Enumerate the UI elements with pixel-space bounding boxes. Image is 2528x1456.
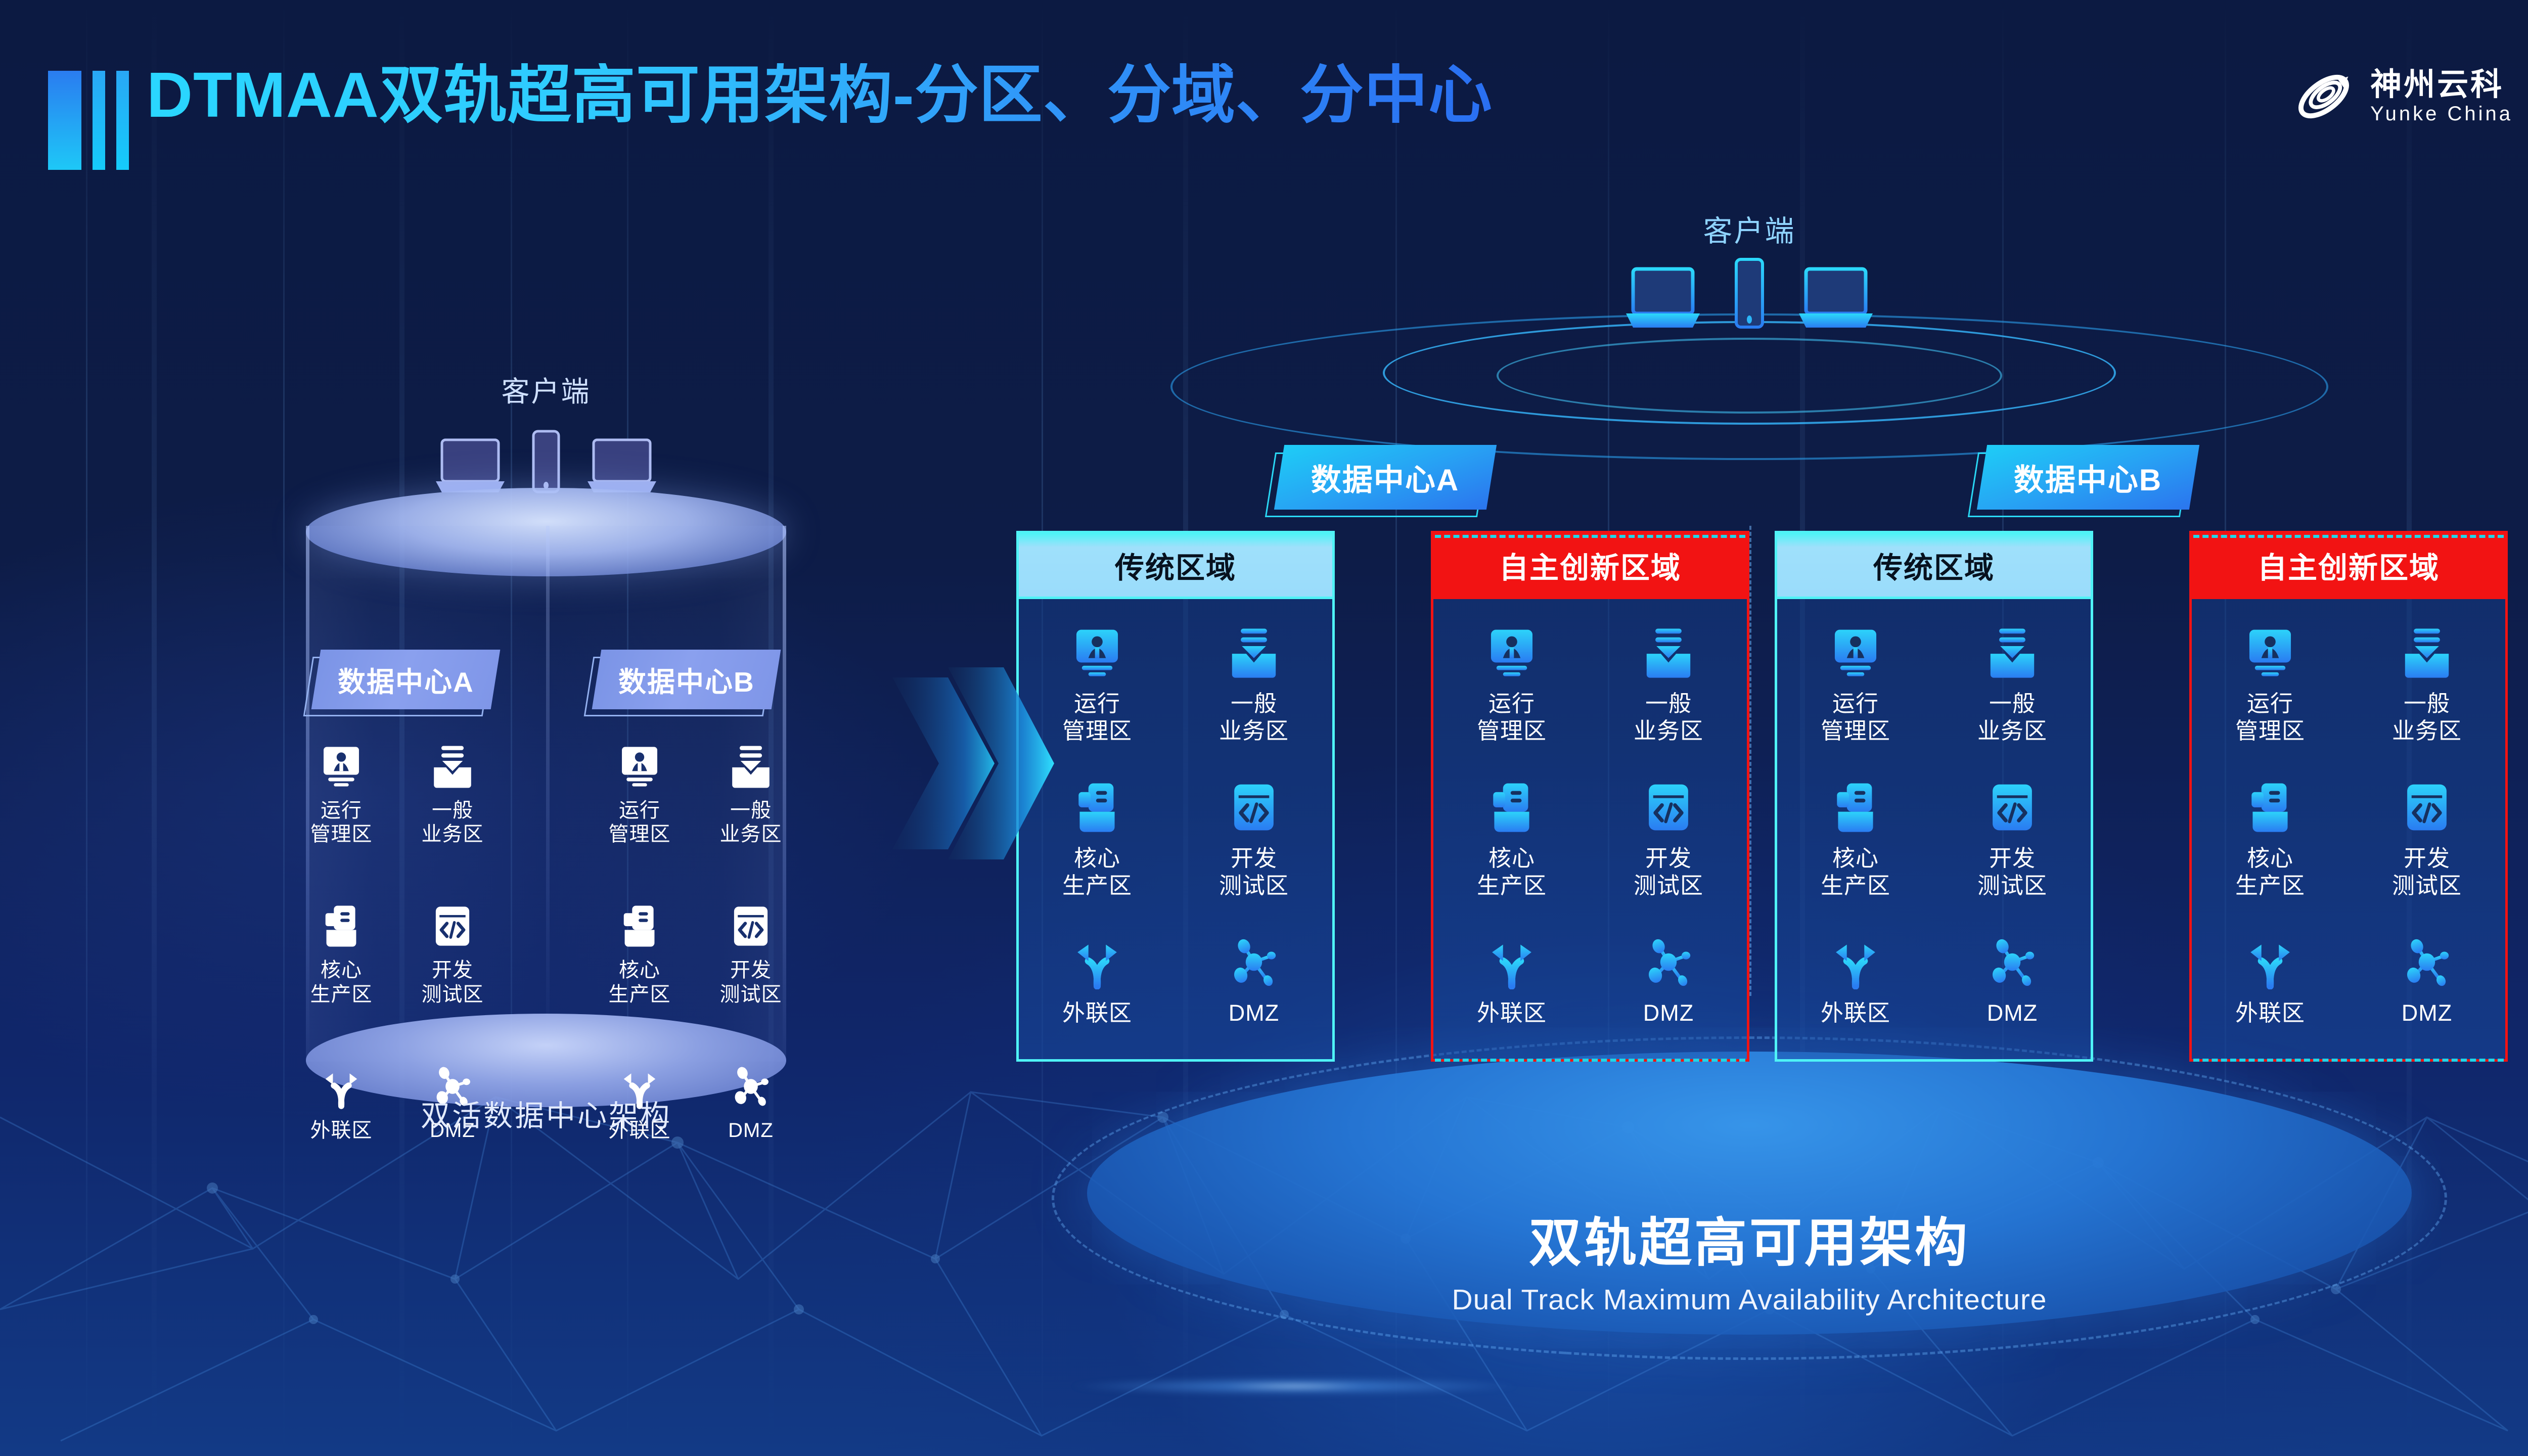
zone-row: 外联区 <box>1433 935 1747 1027</box>
badge-face: 数据中心A <box>1274 445 1497 510</box>
user-monitor-icon <box>1828 625 1883 680</box>
left-datacenter-badge-a[interactable]: 数据中心A <box>316 650 495 709</box>
right-datacenters: 传统区域 <box>991 531 2508 1062</box>
zone-label: 开发 测试区 <box>1977 845 2047 899</box>
left-clients-label: 客户端 <box>217 369 875 410</box>
zone-general-business[interactable]: 一般 业务区 <box>407 743 498 846</box>
panel-title-innovation: 自主创新区域 <box>1431 531 1749 597</box>
zone-dmz[interactable]: DMZ <box>2364 935 2490 1027</box>
zone-label: DMZ <box>2402 999 2452 1027</box>
zone-row: 核心 生产区 开发 测试区 <box>286 903 508 1006</box>
zone-row: 运行 管理区 一般 业务区 <box>1433 625 1747 745</box>
right-datacenter-badge-a[interactable]: 数据中心A <box>1279 445 1492 510</box>
zone-row: 核心 生产区 开发 测试区 <box>1019 780 1332 899</box>
dc-a-traditional-panel[interactable]: 传统区域 <box>1016 531 1335 1062</box>
zone-label: 一般 业务区 <box>1219 690 1289 745</box>
zone-row: 外联区 <box>1019 935 1332 1027</box>
branch-arrows-icon <box>1828 935 1883 989</box>
user-monitor-icon <box>2243 625 2297 680</box>
zone-dev-test[interactable]: 开发 测试区 <box>1949 780 2075 899</box>
badge-face: 数据中心A <box>311 650 501 709</box>
zone-core-production[interactable]: 核心 生产区 <box>594 903 685 1006</box>
zone-label: 核心 生产区 <box>1062 845 1132 899</box>
zone-core-production[interactable]: 核心 生产区 <box>1449 780 1575 899</box>
inbox-icon <box>728 743 774 790</box>
branch-arrows-icon <box>1484 935 1539 989</box>
page-title: DTMAA双轨超高可用架构-分区、分域、分中心 <box>147 63 1493 127</box>
zone-ops-mgmt[interactable]: 运行 管理区 <box>594 743 685 846</box>
logo-name-cn: 神州云科 <box>2370 69 2513 101</box>
zone-row: 运行 管理区 一般 业务区 <box>2192 625 2505 745</box>
user-monitor-icon <box>1070 625 1124 680</box>
dc-b-innovation-panel[interactable]: 自主创新区域 运行 管理区 <box>2189 531 2508 1062</box>
double-chevron-right-icon <box>887 657 1059 870</box>
zone-label: 核心 生产区 <box>2235 845 2305 899</box>
zone-general-business[interactable]: 一般 业务区 <box>1949 625 2075 745</box>
zone-label: 一般 业务区 <box>1977 690 2047 745</box>
zone-label: 开发 测试区 <box>720 959 782 1006</box>
datacenter-a: 传统区域 <box>991 531 1749 1062</box>
zone-row: 核心 生产区 开发 测试区 <box>1433 780 1747 899</box>
badge-face: 数据中心B <box>592 650 781 709</box>
zone-label: 开发 测试区 <box>1634 845 1703 899</box>
datacenter-b: 传统区域 运行 管理区 <box>1749 531 2508 1062</box>
server-rack-icon <box>2243 780 2297 835</box>
dc-a-innovation-panel[interactable]: 自主创新区域 运行 管理区 <box>1431 531 1749 1062</box>
server-rack-icon <box>616 903 663 949</box>
zone-external[interactable]: 外联区 <box>2207 935 2333 1027</box>
server-rack-icon <box>1484 780 1539 835</box>
inbox-icon <box>429 743 476 790</box>
zone-ops-mgmt[interactable]: 运行 管理区 <box>2207 625 2333 745</box>
right-architecture-diagram: 客户端 数据中心A <box>991 177 2508 1365</box>
badge-face: 数据中心B <box>1977 445 2199 510</box>
right-clients-label: 客户端 <box>991 207 2508 250</box>
zone-general-business[interactable]: 一般 业务区 <box>1605 625 1732 745</box>
zone-label: 核心 生产区 <box>609 959 671 1006</box>
zone-dev-test[interactable]: 开发 测试区 <box>1605 780 1732 899</box>
server-rack-icon <box>1070 780 1124 835</box>
inbox-icon <box>1227 625 1281 680</box>
right-datacenter-a-label: 数据中心A <box>1311 456 1459 499</box>
panel-zones: 运行 管理区 一般 业务区 <box>2189 597 2508 1062</box>
zone-row: 运行 管理区 一般 业务区 <box>584 743 806 846</box>
inbox-icon <box>1985 625 2040 680</box>
zone-label: 一般 业务区 <box>720 799 782 846</box>
zone-label: 外联区 <box>1062 999 1132 1027</box>
zone-core-production[interactable]: 核心 生产区 <box>296 903 387 1006</box>
panel-title-traditional: 传统区域 <box>1775 531 2093 597</box>
zone-label: 核心 生产区 <box>1477 845 1547 899</box>
zone-external[interactable]: 外联区 <box>1792 935 1919 1027</box>
zone-dev-test[interactable]: 开发 测试区 <box>2364 780 2490 899</box>
zone-general-business[interactable]: 一般 业务区 <box>705 743 796 846</box>
caption-en: Dual Track Maximum Availability Architec… <box>991 1283 2508 1316</box>
zone-label: 外联区 <box>1821 999 1890 1027</box>
left-client-devices <box>433 430 659 493</box>
zone-row: 运行 管理区 一般 业务区 <box>286 743 508 846</box>
zone-row: 外联区 <box>1777 935 2091 1027</box>
zone-row: 外联区 <box>2192 935 2505 1027</box>
code-brackets-icon <box>1641 780 1696 835</box>
logo-name-en: Yunke China <box>2370 104 2513 124</box>
branch-arrows-icon <box>1070 935 1124 989</box>
logo-text: 神州云科 Yunke China <box>2370 69 2513 124</box>
panel-title-innovation: 自主创新区域 <box>2189 531 2508 597</box>
inbox-icon <box>2400 625 2454 680</box>
zone-label: 开发 测试区 <box>422 959 484 1006</box>
zone-dev-test[interactable]: 开发 测试区 <box>407 903 498 1006</box>
panel-zones: 运行 管理区 一般 业务区 <box>1016 597 1335 1062</box>
panel-zones: 运行 管理区 一般 业务区 <box>1775 597 2093 1062</box>
dc-b-traditional-panel[interactable]: 传统区域 运行 管理区 <box>1775 531 2093 1062</box>
zone-label: 运行 管理区 <box>310 799 373 846</box>
zone-dmz[interactable]: DMZ <box>1605 935 1732 1027</box>
laptop-icon <box>584 438 659 493</box>
zone-row: 核心 生产区 开发 测试区 <box>1777 780 2091 899</box>
zone-label: 一般 业务区 <box>1634 690 1703 745</box>
zone-ops-mgmt[interactable]: 运行 管理区 <box>1449 625 1575 745</box>
zone-row: 运行 管理区 一般 业务区 <box>1777 625 2091 745</box>
client-ring-inner <box>1497 338 2002 414</box>
zone-dmz[interactable]: DMZ <box>1191 935 1317 1027</box>
zone-label: 运行 管理区 <box>609 799 671 846</box>
left-zone-columns: 运行 管理区 一般 业务区 <box>217 743 875 1143</box>
accent-bar-thin <box>116 71 129 170</box>
zone-ops-mgmt[interactable]: 运行 管理区 <box>1792 625 1919 745</box>
user-monitor-icon <box>318 743 365 790</box>
network-nodes-icon <box>1641 935 1696 989</box>
left-dc-b-zones: 运行 管理区 一般 业务区 <box>584 743 806 1143</box>
right-datacenter-b-label: 数据中心B <box>2014 456 2162 499</box>
zone-label: 外联区 <box>2235 999 2305 1027</box>
laptop-icon <box>433 438 508 493</box>
zone-label: 运行 管理区 <box>1477 690 1547 745</box>
panel-title-traditional: 传统区域 <box>1016 531 1335 597</box>
zone-label: 开发 测试区 <box>2392 845 2462 899</box>
zone-general-business[interactable]: 一般 业务区 <box>2364 625 2490 745</box>
zone-general-business[interactable]: 一般 业务区 <box>1191 625 1317 745</box>
zone-label: 运行 管理区 <box>1821 690 1890 745</box>
zone-row: 核心 生产区 开发 测试区 <box>584 903 806 1006</box>
laptop-icon <box>1622 267 1704 329</box>
right-diagram-caption: 双轨超高可用架构 Dual Track Maximum Availability… <box>991 1213 2508 1316</box>
zone-dev-test[interactable]: 开发 测试区 <box>1191 780 1317 899</box>
caption-cn: 双轨超高可用架构 <box>991 1213 2508 1274</box>
right-client-devices <box>1622 258 1877 329</box>
zone-external[interactable]: 外联区 <box>1449 935 1575 1027</box>
zone-core-production[interactable]: 核心 生产区 <box>1792 780 1919 899</box>
network-nodes-icon <box>2400 935 2454 989</box>
zone-dmz[interactable]: DMZ <box>1949 935 2075 1027</box>
zone-label: 一般 业务区 <box>422 799 484 846</box>
network-nodes-icon <box>1985 935 2040 989</box>
zone-label: DMZ <box>1643 999 1694 1027</box>
left-datacenter-a-label: 数据中心A <box>338 659 474 700</box>
yunke-swirl-logo-icon <box>2290 63 2357 130</box>
bottom-light-glow <box>1067 1377 1522 1395</box>
left-datacenter-badge-b[interactable]: 数据中心B <box>597 650 776 709</box>
zone-label: 核心 生产区 <box>310 959 373 1006</box>
zone-label: DMZ <box>1229 999 1279 1027</box>
network-nodes-icon <box>1227 935 1281 989</box>
left-datacenter-badges: 数据中心A 数据中心B <box>217 650 875 709</box>
zone-row: 核心 生产区 开发 测试区 <box>2192 780 2505 899</box>
user-monitor-icon <box>1484 625 1539 680</box>
left-diagram-caption: 双活数据中心架构 <box>217 1092 875 1134</box>
zone-row: 运行 管理区 一般 业务区 <box>1019 625 1332 745</box>
right-datacenter-badge-b[interactable]: 数据中心B <box>1982 445 2194 510</box>
left-datacenter-b-label: 数据中心B <box>618 659 755 700</box>
server-rack-icon <box>1828 780 1883 835</box>
accent-bar-thin <box>93 71 105 170</box>
page-header: DTMAA双轨超高可用架构-分区、分域、分中心 神州云科 Yunke China <box>0 0 2528 182</box>
zone-label: 运行 管理区 <box>1062 690 1132 745</box>
transition-arrow <box>887 657 1059 870</box>
code-brackets-icon <box>728 903 774 949</box>
code-brackets-icon <box>1985 780 2040 835</box>
panel-zones: 运行 管理区 一般 业务区 <box>1431 597 1749 1062</box>
zone-ops-mgmt[interactable]: 运行 管理区 <box>296 743 387 846</box>
zone-label: 核心 生产区 <box>1821 845 1890 899</box>
zone-label: 开发 测试区 <box>1219 845 1289 899</box>
left-dc-a-zones: 运行 管理区 一般 业务区 <box>286 743 508 1143</box>
server-rack-icon <box>318 903 365 949</box>
phone-icon <box>532 430 560 493</box>
left-architecture-diagram: 客户端 数据中心A 数据中心B <box>217 354 875 1213</box>
code-brackets-icon <box>429 903 476 949</box>
code-brackets-icon <box>1227 780 1281 835</box>
brand-logo: 神州云科 Yunke China <box>2290 63 2513 130</box>
zone-dev-test[interactable]: 开发 测试区 <box>705 903 796 1006</box>
zone-external[interactable]: 外联区 <box>1034 935 1160 1027</box>
inbox-icon <box>1641 625 1696 680</box>
branch-arrows-icon <box>2243 935 2297 989</box>
zone-label: DMZ <box>1987 999 2038 1027</box>
zone-label: 运行 管理区 <box>2235 690 2305 745</box>
phone-icon <box>1734 258 1765 329</box>
code-brackets-icon <box>2400 780 2454 835</box>
zone-label: 外联区 <box>1477 999 1547 1027</box>
title-accent-bars <box>48 71 129 170</box>
user-monitor-icon <box>616 743 663 790</box>
accent-bar-wide <box>48 71 81 170</box>
zone-label: 一般 业务区 <box>2392 690 2462 745</box>
zone-core-production[interactable]: 核心 生产区 <box>2207 780 2333 899</box>
laptop-icon <box>1795 267 1877 329</box>
